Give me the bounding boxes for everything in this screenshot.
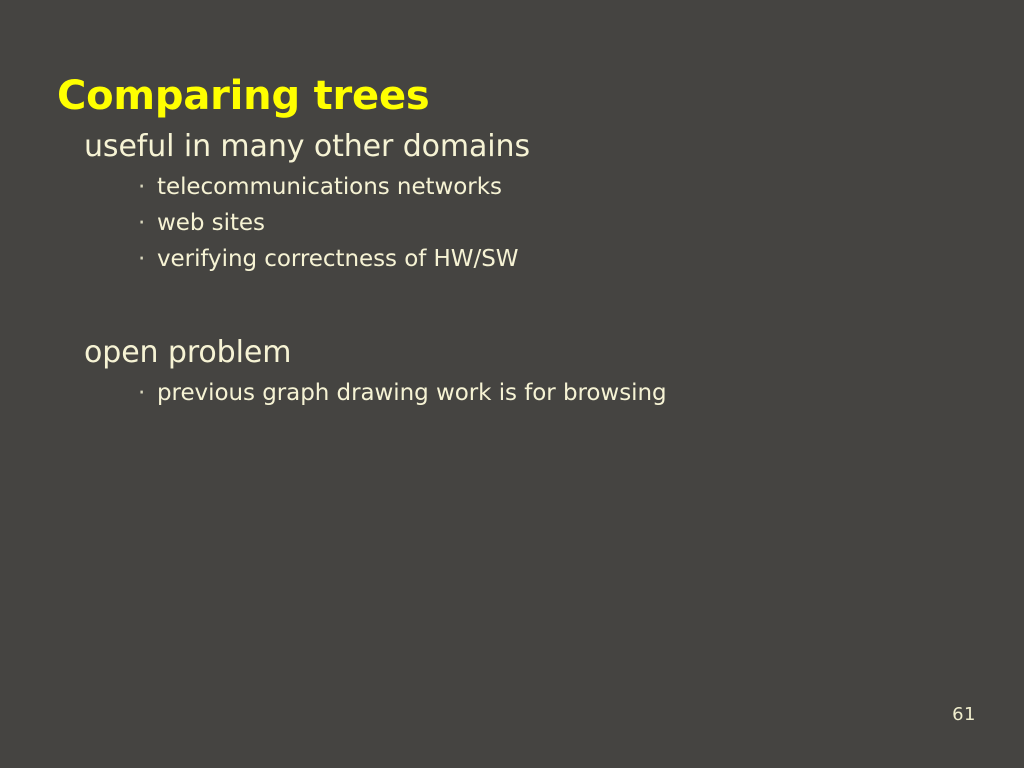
middot-bullet-icon: · bbox=[138, 170, 157, 206]
bullet-list: · telecommunications networks · web site… bbox=[84, 170, 984, 278]
list-item-label: verifying correctness of HW/SW bbox=[157, 242, 518, 278]
list-item: · verifying correctness of HW/SW bbox=[138, 242, 984, 278]
list-item-label: web sites bbox=[157, 206, 265, 242]
list-item: · previous graph drawing work is for bro… bbox=[138, 376, 984, 412]
bullet-list: · previous graph drawing work is for bro… bbox=[84, 376, 984, 412]
content-section: open problem · previous graph drawing wo… bbox=[84, 334, 984, 412]
content-section: useful in many other domains · telecommu… bbox=[84, 128, 984, 278]
section-heading: useful in many other domains bbox=[84, 128, 984, 165]
middot-bullet-icon: · bbox=[138, 376, 157, 412]
presentation-slide: Comparing trees useful in many other dom… bbox=[0, 0, 1024, 768]
list-item-label: previous graph drawing work is for brows… bbox=[157, 376, 667, 412]
list-item-label: telecommunications networks bbox=[157, 170, 502, 206]
page-number: 61 bbox=[952, 704, 976, 725]
section-heading: open problem bbox=[84, 334, 984, 371]
list-item: · web sites bbox=[138, 206, 984, 242]
list-item: · telecommunications networks bbox=[138, 170, 984, 206]
slide-body: useful in many other domains · telecommu… bbox=[84, 128, 984, 412]
middot-bullet-icon: · bbox=[138, 242, 157, 278]
page-title: Comparing trees bbox=[57, 74, 430, 119]
middot-bullet-icon: · bbox=[138, 206, 157, 242]
